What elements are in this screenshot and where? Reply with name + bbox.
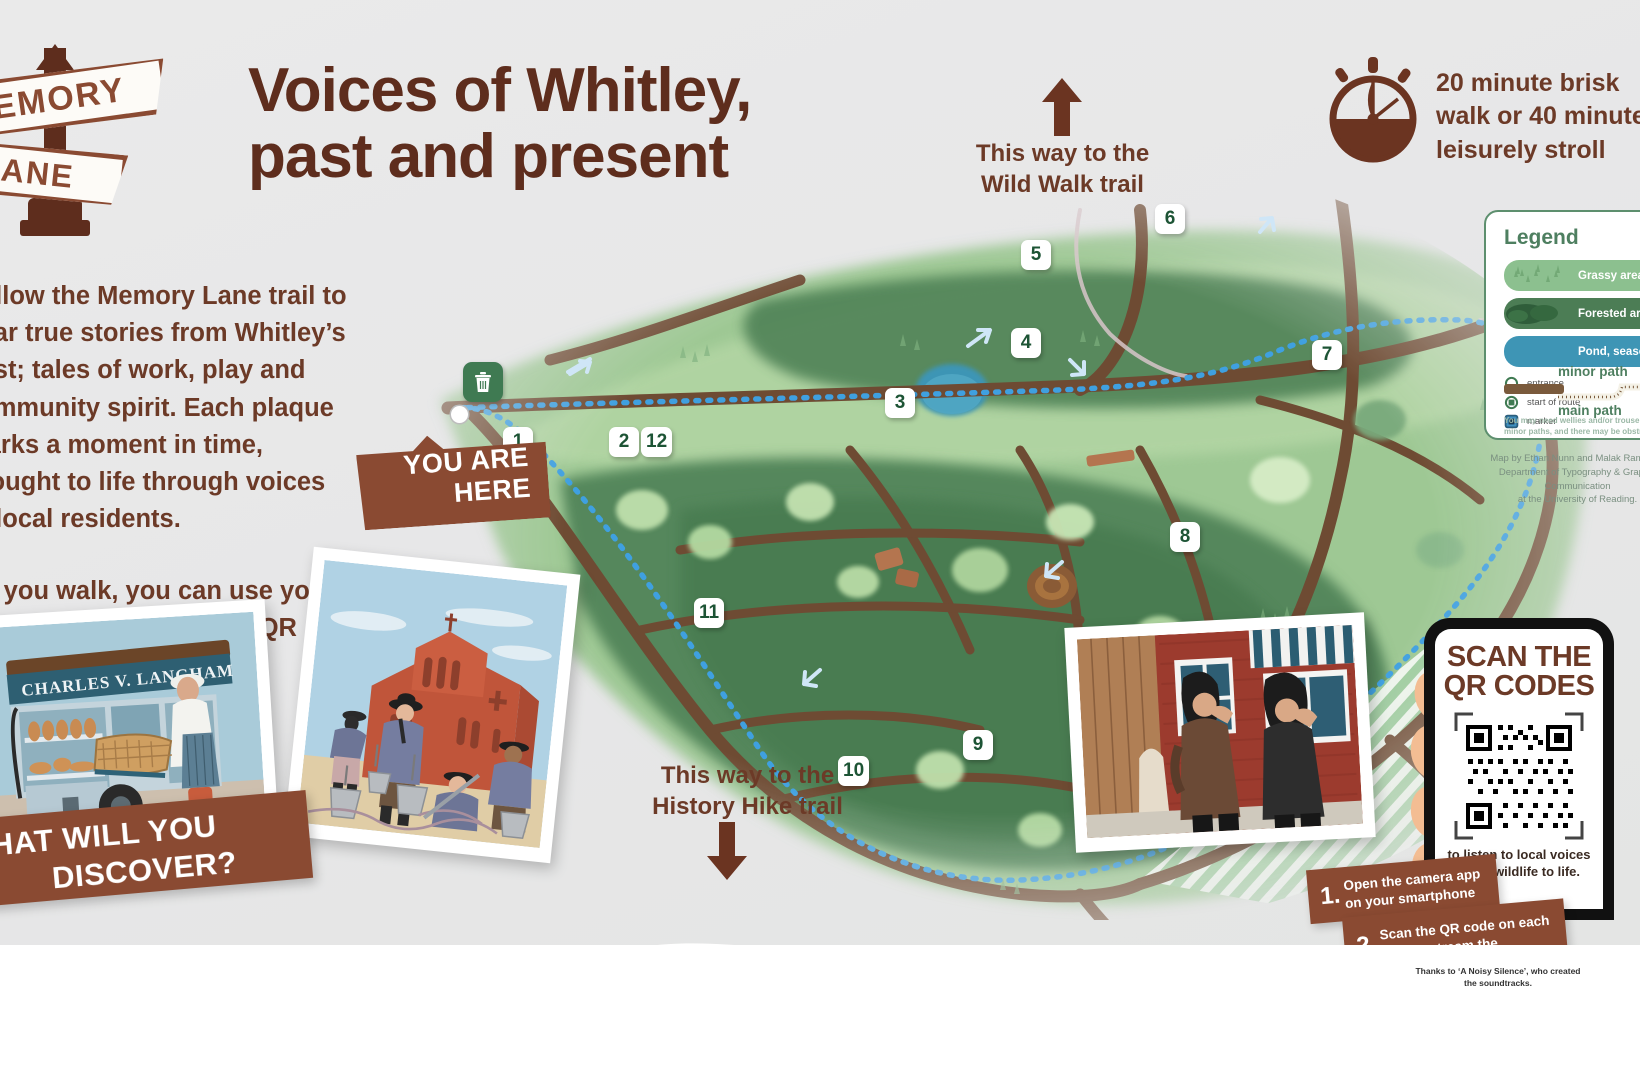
map-marker[interactable]: 4 bbox=[1011, 328, 1041, 358]
attribution-line-1: Map by Ethan Nunn and Malak Ramadan bbox=[1470, 452, 1640, 466]
legend-label-forested-area: Forested area bbox=[1578, 308, 1640, 320]
stopwatch-icon bbox=[1318, 55, 1428, 165]
partner-logos: nature nurture a noisy silence bbox=[0, 942, 1640, 1052]
intro-paragraph-1: Follow the Memory Lane trail to hear tru… bbox=[0, 278, 354, 539]
map-marker[interactable]: 12 bbox=[641, 427, 672, 457]
legend-label-pond: Pond, seasonal bbox=[1578, 346, 1640, 358]
poster-canvas: 1 2 12 3 4 5 6 7 8 9 10 11 MEMORY LANE V… bbox=[0, 0, 1640, 1080]
arrow-down-icon bbox=[705, 822, 749, 880]
map-marker[interactable]: 3 bbox=[885, 388, 915, 418]
logo-sign-memory: MEMORY bbox=[0, 55, 171, 147]
scan-heading-line-2: QR CODES bbox=[1443, 672, 1595, 701]
page-title-line-2: past and present bbox=[248, 124, 888, 190]
legend-title: Legend bbox=[1504, 226, 1640, 250]
map-marker[interactable]: 5 bbox=[1021, 240, 1051, 270]
start-of-route-pin bbox=[451, 406, 468, 423]
church-construction-illustration bbox=[284, 547, 581, 863]
map-attribution: Map by Ethan Nunn and Malak Ramadan Depa… bbox=[1470, 452, 1640, 507]
legend-main-path-swatch bbox=[1504, 384, 1564, 394]
grass-tuft-icon bbox=[1504, 262, 1574, 290]
direction-wild-walk: This way to the Wild Walk trail bbox=[955, 138, 1170, 200]
walk-duration: 20 minute brisk walk or 40 minute leisur… bbox=[1318, 55, 1640, 175]
qr-code-frame[interactable] bbox=[1454, 711, 1584, 841]
scan-heading-line-1: SCAN THE bbox=[1443, 643, 1595, 672]
start-of-route-icon bbox=[1504, 395, 1519, 410]
forest-canopy-icon bbox=[1504, 300, 1574, 328]
map-marker[interactable]: 11 bbox=[694, 598, 724, 628]
you-are-here-line-2: HERE bbox=[453, 473, 532, 510]
page-title: Voices of Whitley, past and present bbox=[248, 58, 888, 191]
map-marker[interactable]: 8 bbox=[1170, 522, 1200, 552]
walk-duration-text: 20 minute brisk walk or 40 minute leisur… bbox=[1436, 67, 1640, 167]
legend-row-pond: Pond, seasonal bbox=[1504, 336, 1640, 367]
waste-bin-icon bbox=[463, 362, 503, 402]
arrow-up-icon bbox=[1040, 78, 1084, 136]
map-marker[interactable]: 9 bbox=[963, 730, 993, 760]
pub-street-illustration bbox=[1064, 612, 1375, 852]
path-sample-icon bbox=[1558, 379, 1640, 403]
legend-row-forested-area: Forested area bbox=[1504, 298, 1640, 329]
legend-label-grassy-area: Grassy area bbox=[1578, 270, 1640, 282]
legend-row-grassy-area: Grassy area bbox=[1504, 260, 1640, 291]
page-title-line-1: Voices of Whitley, bbox=[248, 58, 888, 124]
legend-note: You may need wellies and/or trousers to … bbox=[1504, 416, 1640, 438]
direction-history-hike: This way to the History Hike trail bbox=[640, 760, 855, 822]
memory-lane-logo: MEMORY LANE bbox=[0, 20, 200, 240]
attribution-line-3: at the University of Reading. bbox=[1470, 493, 1640, 507]
map-marker[interactable]: 2 bbox=[609, 427, 639, 457]
legend-panel: Legend Grassy area Forested area Pond bbox=[1484, 210, 1640, 440]
map-marker[interactable]: 7 bbox=[1312, 340, 1342, 370]
legend-label-minor-path: minor path bbox=[1558, 364, 1640, 379]
attribution-line-2: Department of Typography & Graphic Commu… bbox=[1470, 466, 1640, 494]
qr-code-icon[interactable] bbox=[1454, 711, 1584, 841]
signpost-foot bbox=[20, 220, 90, 236]
map-marker[interactable]: 6 bbox=[1155, 204, 1185, 234]
